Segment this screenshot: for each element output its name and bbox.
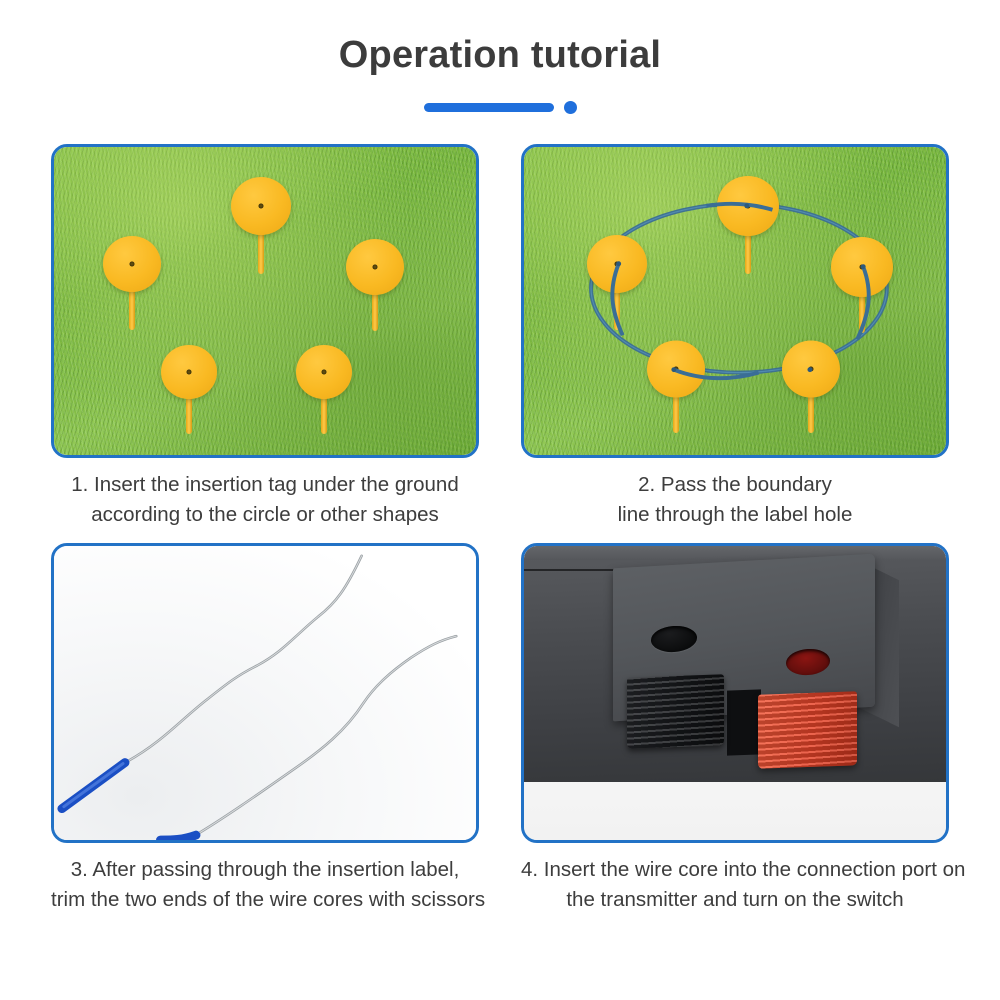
lever-ribs	[758, 692, 857, 769]
terminal-lever-black[interactable]	[627, 674, 724, 748]
step-4-caption: 4. Insert the wire core into the connect…	[521, 855, 949, 914]
caption-line: 1. Insert the insertion tag under the gr…	[51, 470, 479, 500]
step-3-photo-frame	[51, 543, 479, 843]
tutorial-step-1: 1. Insert the insertion tag under the gr…	[51, 144, 479, 529]
caption-line: 3. After passing through the insertion l…	[51, 855, 479, 885]
step-2-photo	[524, 147, 946, 455]
step-1-photo	[54, 147, 476, 455]
title-accent-divider	[0, 100, 1000, 114]
page-title: Operation tutorial	[0, 36, 1000, 74]
lever-ribs	[627, 674, 724, 748]
caption-line: according to the circle or other shapes	[51, 500, 479, 530]
terminal-gap	[727, 690, 761, 756]
caption-line: 2. Pass the boundary	[521, 470, 949, 500]
tutorial-step-4: 4. Insert the wire core into the connect…	[521, 543, 949, 914]
accent-bar	[424, 103, 554, 112]
step-1-caption: 1. Insert the insertion tag under the gr…	[51, 470, 479, 529]
tag-hole-icon	[322, 369, 327, 374]
transmitter-top-edge	[524, 546, 946, 559]
caption-line: trim the two ends of the wire cores with…	[51, 885, 479, 915]
wire-cores	[54, 546, 476, 840]
step-3-caption: 3. After passing through the insertion l…	[51, 855, 479, 914]
boundary-wire-through-holes	[524, 147, 946, 455]
caption-line: the transmitter and turn on the switch	[521, 885, 949, 915]
step-2-photo-frame	[521, 144, 949, 458]
page-header: Operation tutorial	[0, 0, 1000, 114]
step-4-photo	[524, 546, 946, 840]
step-3-photo	[54, 546, 476, 840]
step-4-photo-frame	[521, 543, 949, 843]
step-2-caption: 2. Pass the boundary line through the la…	[521, 470, 949, 529]
tag-hole-icon	[130, 262, 135, 267]
caption-line: line through the label hole	[521, 500, 949, 530]
tag-hole-icon	[187, 369, 192, 374]
caption-line: 4. Insert the wire core into the connect…	[521, 855, 949, 885]
step-1-photo-frame	[51, 144, 479, 458]
tutorial-step-2: 2. Pass the boundary line through the la…	[521, 144, 949, 529]
accent-dot	[564, 101, 577, 114]
tag-hole-icon	[372, 265, 377, 270]
tutorial-step-3: 3. After passing through the insertion l…	[51, 543, 479, 914]
terminal-lever-red[interactable]	[758, 692, 857, 769]
tag-hole-icon	[258, 203, 263, 208]
tutorial-steps-grid: 1. Insert the insertion tag under the gr…	[0, 144, 1000, 915]
